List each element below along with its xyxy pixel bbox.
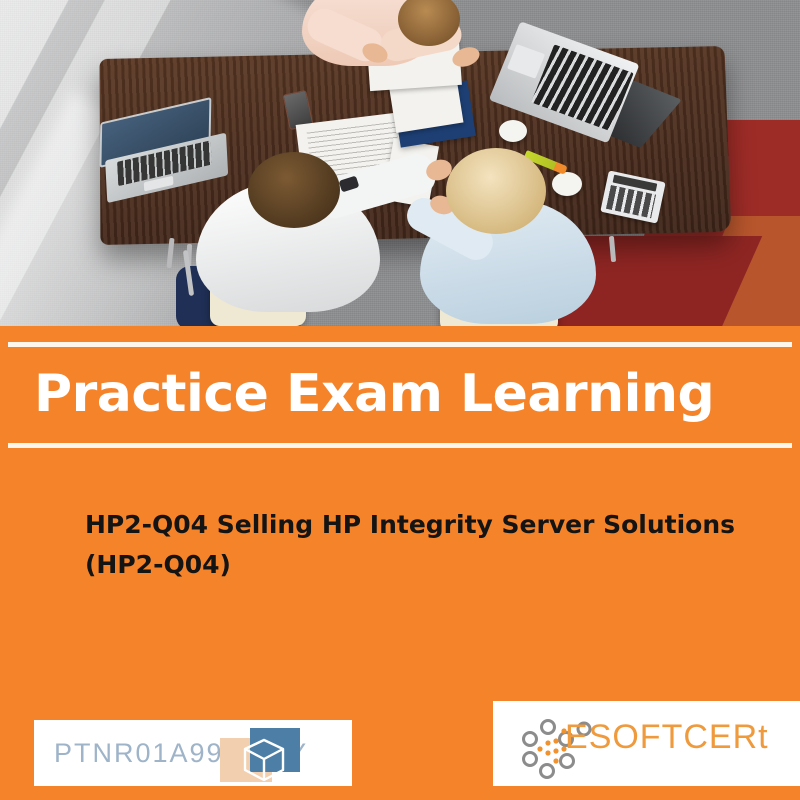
cube-3d-icon: [240, 736, 288, 784]
title-banner: Practice Exam Learning: [0, 326, 800, 452]
exam-subtitle: HP2-Q04 Selling HP Integrity Server Solu…: [85, 505, 745, 585]
header-photo: [0, 0, 800, 326]
esoftcert-tail: t: [758, 718, 768, 756]
banner-rule-top: [8, 342, 792, 347]
blonde-hair: [446, 148, 546, 234]
esoftcert-prefix: E: [565, 718, 589, 756]
banner-rule-bottom: [8, 443, 792, 448]
logo-esoftcert: ESOFTCERt: [493, 701, 800, 786]
coffee-cup-2: [552, 172, 582, 196]
coffee-cup-1: [499, 120, 527, 142]
man-hair: [248, 152, 340, 228]
poster-root: Practice Exam Learning HP2-Q04 Selling H…: [0, 0, 800, 800]
page-title: Practice Exam Learning: [34, 356, 774, 432]
esoftcert-wordmark: ESOFTCERt: [565, 718, 769, 757]
esoftcert-main: SOFTCER: [589, 718, 758, 756]
logo-ptnr: PTNR01A998WXY: [34, 720, 352, 786]
